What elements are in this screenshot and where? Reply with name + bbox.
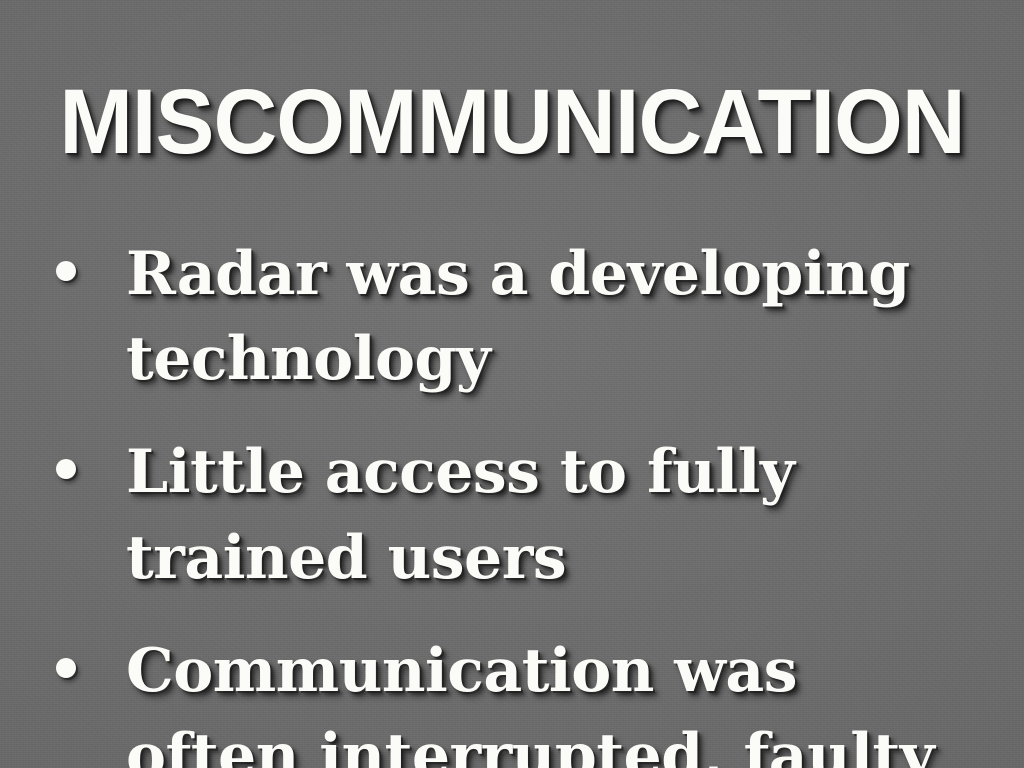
bullet-item-text: Communication was often interrupted, fau…	[126, 629, 986, 768]
bullet-list: Radar was a developing technology Little…	[46, 232, 986, 768]
bullet-item-text: Radar was a developing technology	[126, 232, 986, 402]
bullet-list-item: Radar was a developing technology	[46, 232, 986, 402]
bullet-list-item: Little access to fully trained users	[46, 430, 986, 600]
bullet-list-item: Communication was often interrupted, fau…	[46, 629, 986, 768]
bullet-dot-icon	[56, 459, 76, 479]
bullet-item-text: Little access to fully trained users	[126, 430, 986, 600]
bullet-dot-icon	[56, 261, 76, 281]
slide-title: MISCOMMUNICATION	[20, 76, 1003, 168]
presentation-slide: MISCOMMUNICATION Radar was a developing …	[0, 0, 1024, 768]
bullet-dot-icon	[56, 658, 76, 678]
